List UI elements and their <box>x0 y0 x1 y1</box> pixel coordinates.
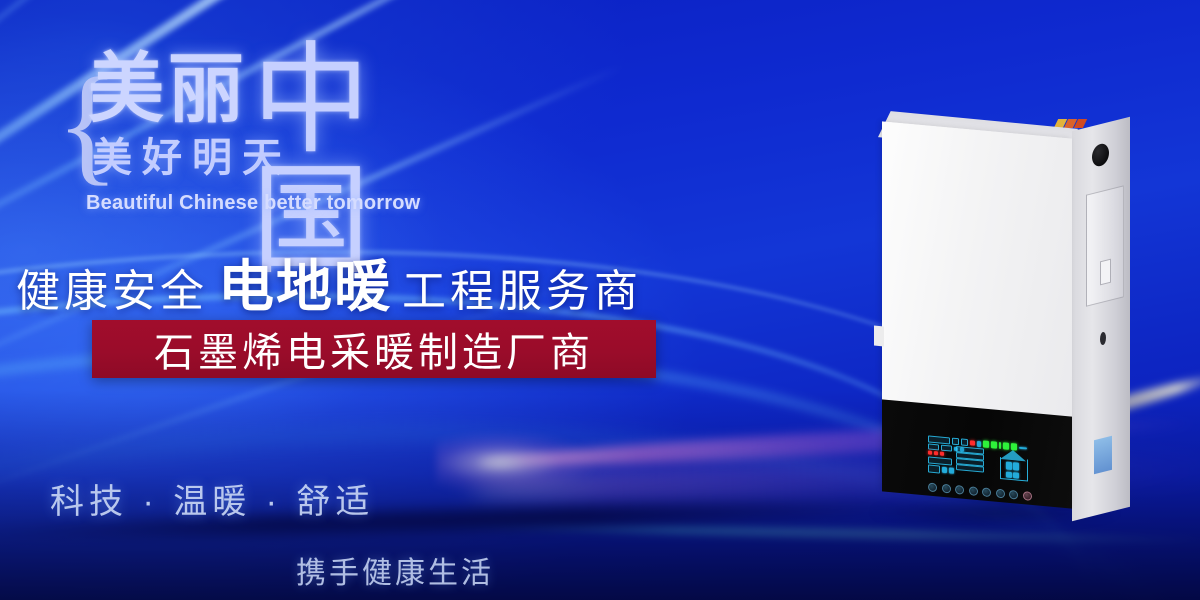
highlight-banner-text: 石墨烯电采暖制造厂商 <box>92 320 656 378</box>
tagline-primary: 科技 · 温暖 · 舒适 <box>50 474 374 523</box>
control-button-mode[interactable] <box>942 484 951 494</box>
logo-lockup: { 美丽 美好明天 中国 Beautiful Chinese better to… <box>56 52 486 222</box>
control-panel-display <box>926 433 1030 500</box>
control-button-down[interactable] <box>969 486 978 496</box>
lcd-value-row <box>928 464 954 474</box>
control-button-timer[interactable] <box>982 487 991 497</box>
control-button-set[interactable] <box>996 489 1005 499</box>
page-title: 健康安全电地暖工程服务商 <box>16 256 642 319</box>
logo-country-text: 中国 <box>252 42 486 283</box>
control-button-menu[interactable] <box>1009 490 1018 500</box>
control-button-up[interactable] <box>955 485 964 495</box>
house-body-shape <box>1000 457 1028 482</box>
product-side-access-panel <box>1086 185 1124 306</box>
promotional-banner: { 美丽 美好明天 中国 Beautiful Chinese better to… <box>0 0 1200 600</box>
logo-main-text: 美丽 <box>88 52 248 128</box>
product-side-switch <box>1100 259 1111 286</box>
headline-part-2: 电地暖 <box>218 255 392 318</box>
product-image <box>860 108 1170 538</box>
control-button-lock[interactable] <box>1023 491 1032 501</box>
headline-part-1: 健康安全 <box>16 267 208 316</box>
logo-english-tagline: Beautiful Chinese better tomorrow <box>86 192 420 215</box>
lcd-center-row-4 <box>956 464 984 473</box>
product-vent <box>1094 436 1112 474</box>
house-icon <box>1000 449 1026 481</box>
tagline-secondary: 携手健康生活 <box>296 548 494 592</box>
product-left-tab <box>874 326 884 347</box>
headline-part-3: 工程服务商 <box>402 267 642 316</box>
highlight-banner: 石墨烯电采暖制造厂商 <box>92 320 656 378</box>
control-button-power[interactable] <box>928 482 937 492</box>
lcd-indicator-row <box>928 450 944 455</box>
